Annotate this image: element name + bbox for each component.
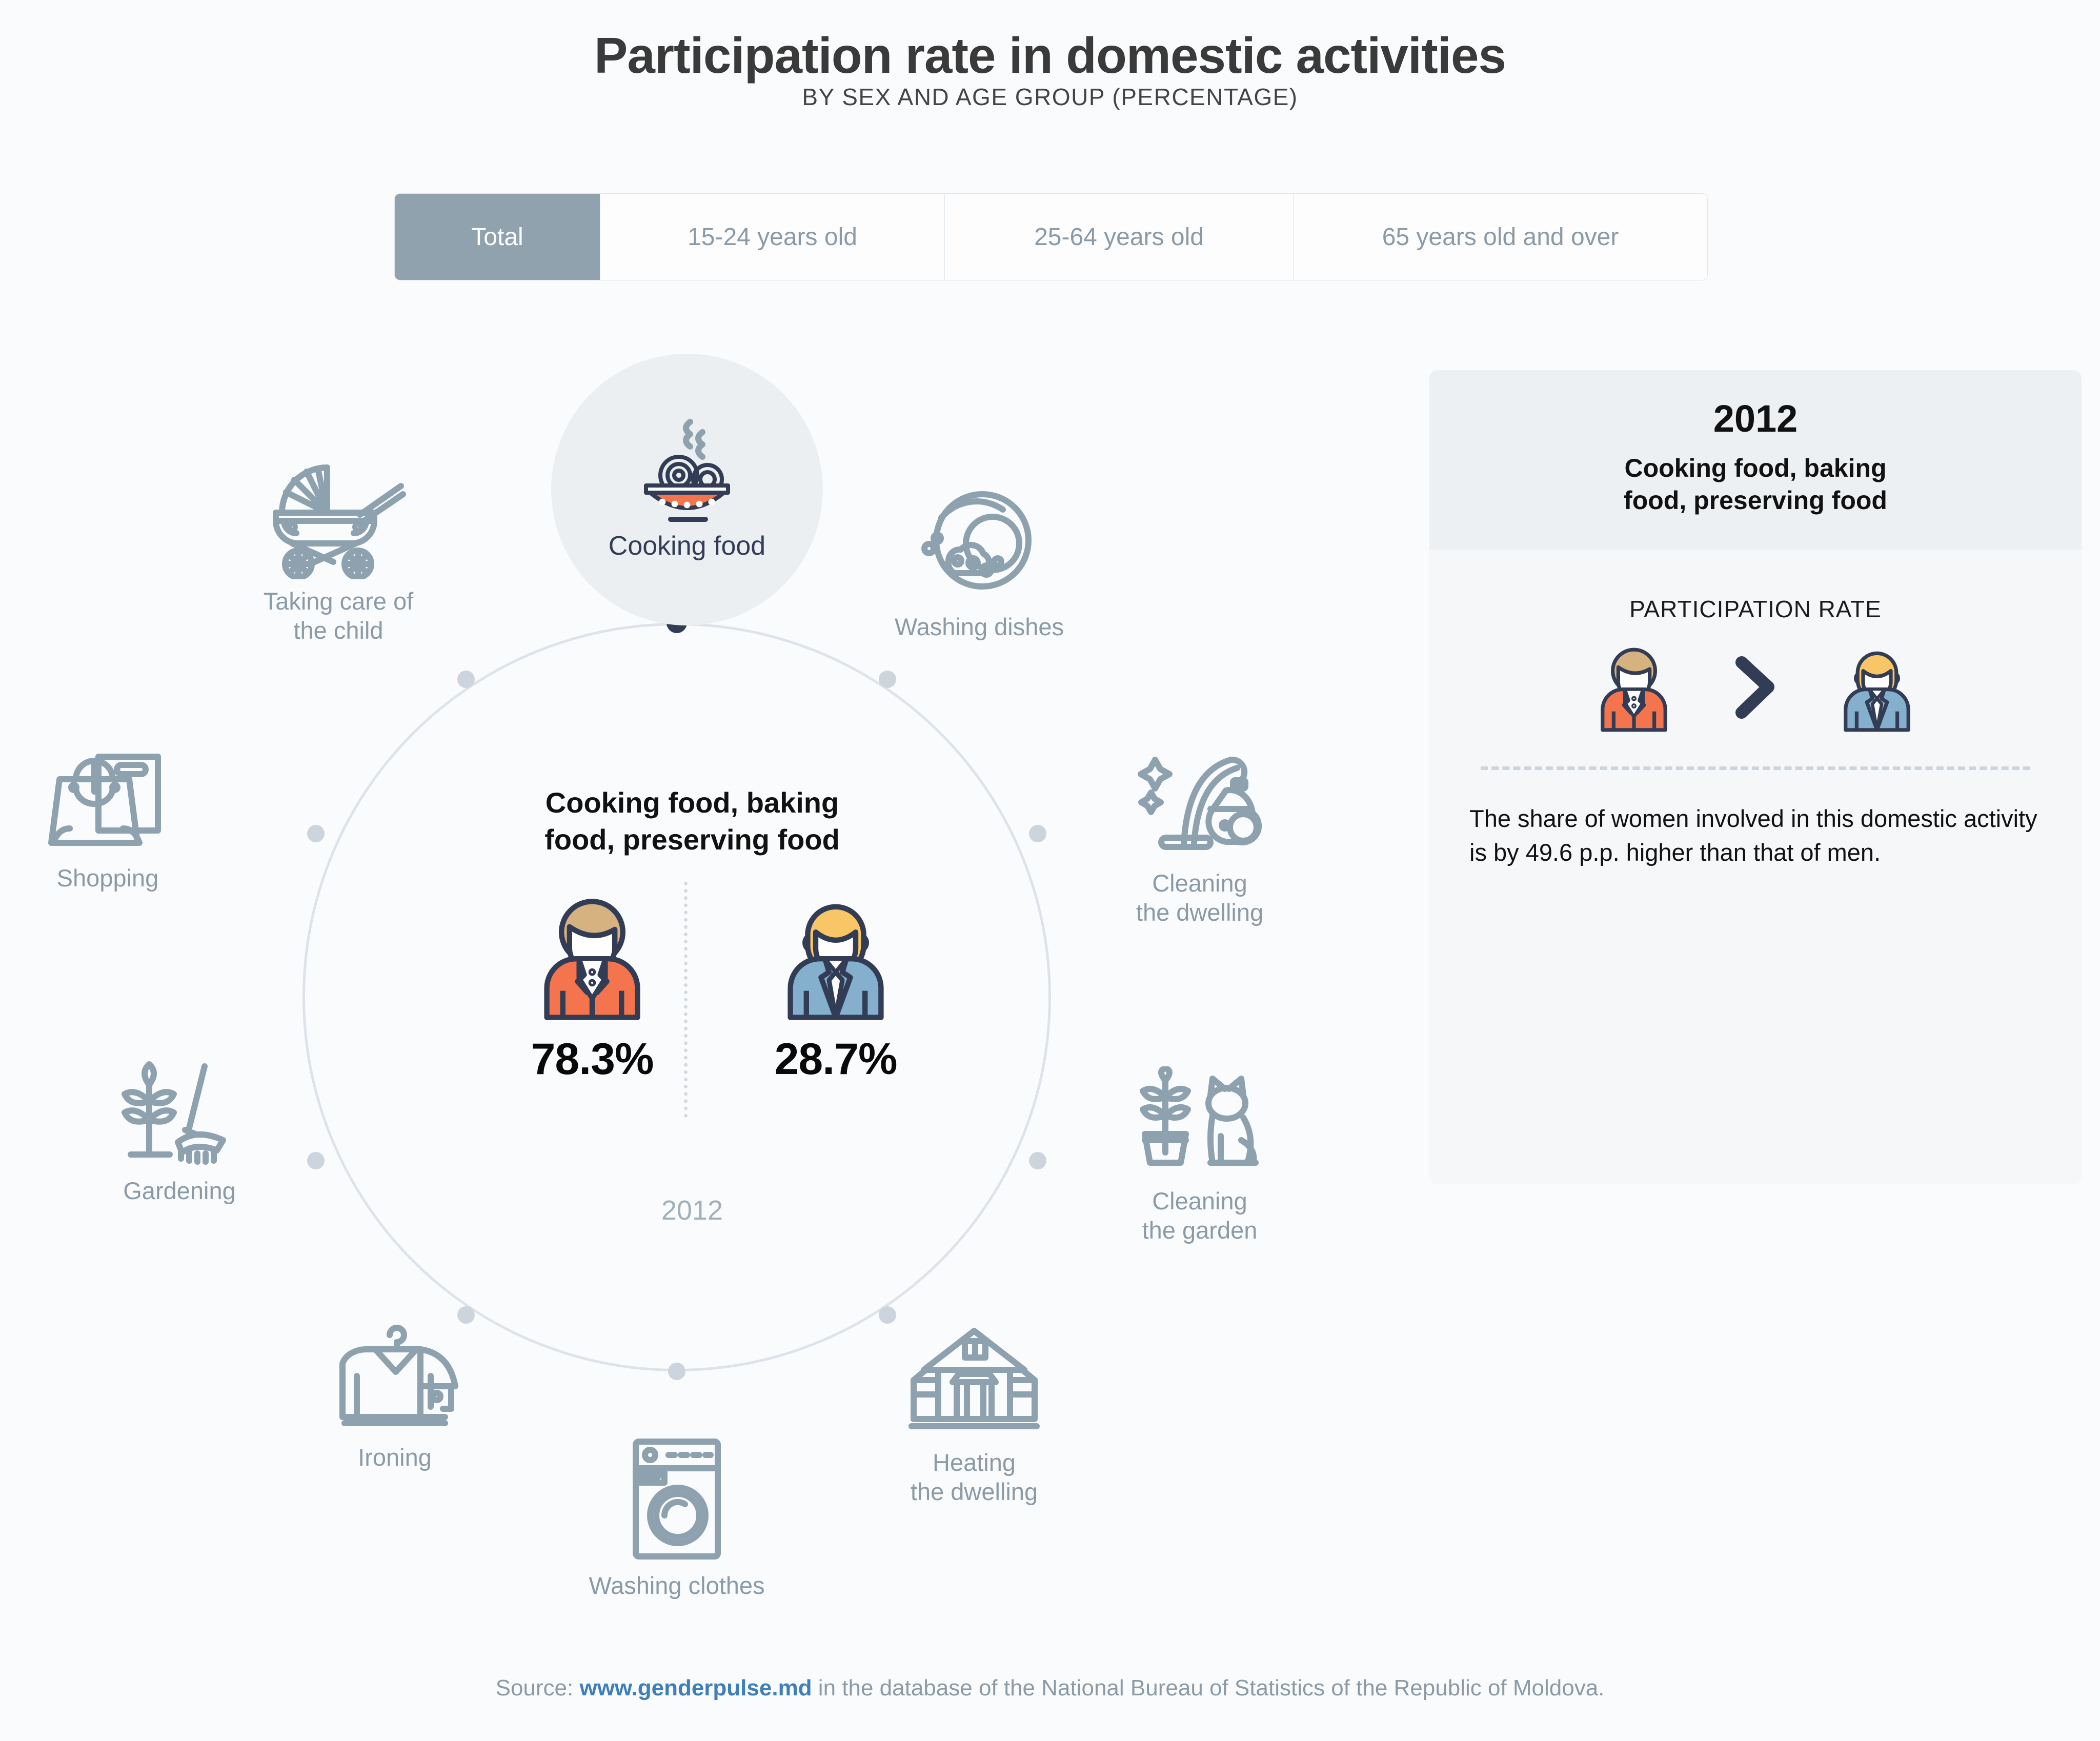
center-activity-title: Cooking food, baking food, preserving fo… [461, 784, 923, 858]
panel-note: The share of women involved in this dome… [1469, 802, 2042, 869]
wheel-ring [302, 623, 1051, 1371]
wheel-node-shopping[interactable] [307, 825, 325, 842]
spoke-washing-dishes[interactable]: Washing dishes [872, 487, 1087, 641]
vacuum-cleaner-icon [1092, 743, 1307, 861]
tab-65-and-over[interactable]: 65 years old and over [1293, 194, 1707, 280]
child-care-line2: the child [293, 617, 383, 644]
stroller-icon [215, 461, 461, 579]
panel-male-avatar-icon [1831, 641, 1923, 734]
spoke-label-gardening: Gardening [72, 1176, 287, 1205]
child-care-line1: Taking care of [264, 588, 414, 615]
heating-dwelling-line1: Heating [933, 1449, 1016, 1476]
panel-activity-line1: Cooking food, baking [1624, 454, 1886, 482]
washing-dishes-icon [872, 487, 1087, 605]
cleaning-dwelling-line2: the dwelling [1136, 899, 1263, 926]
greater-than-icon [1727, 654, 1784, 721]
female-percentage: 78.3% [526, 1034, 659, 1085]
spoke-label-washing-dishes: Washing dishes [872, 612, 1087, 641]
spoke-label-shopping: Shopping [0, 863, 215, 893]
center-activity-line1: Cooking food, baking [461, 784, 923, 821]
cleaning-garden-line1: Cleaning [1152, 1187, 1247, 1214]
footer-suffix: in the database of the National Bureau o… [812, 1675, 1605, 1700]
page-subtitle: BY SEX AND AGE GROUP (PERCENTAGE) [0, 83, 2100, 111]
wheel-node-washing-clothes[interactable] [668, 1363, 685, 1380]
house-icon [866, 1323, 1082, 1441]
potted-plant-cat-icon [1092, 1066, 1307, 1179]
page-title: Participation rate in domestic activitie… [0, 27, 2100, 85]
spoke-cleaning-dwelling[interactable]: Cleaning the dwelling [1092, 743, 1307, 927]
female-avatar-icon [526, 889, 659, 1023]
wheel-node-child-care[interactable] [457, 671, 475, 688]
spoke-heating-dwelling[interactable]: Heating the dwelling [866, 1323, 1082, 1507]
footer-link[interactable]: www.genderpulse.md [579, 1675, 812, 1700]
age-group-tabbar[interactable]: Total 15-24 years old 25-64 years old 65… [395, 194, 1707, 280]
panel-activity: Cooking food, baking food, preserving fo… [1450, 452, 2061, 516]
panel-divider [1481, 766, 2030, 770]
spoke-label-heating-dwelling: Heating the dwelling [866, 1448, 1082, 1507]
heating-dwelling-line2: the dwelling [911, 1478, 1038, 1505]
wheel-node-cleaning-garden[interactable] [1029, 1152, 1046, 1169]
wheel-node-washing-dishes[interactable] [879, 671, 896, 688]
footer-prefix: Source: [496, 1675, 580, 1700]
spoke-shopping[interactable]: Shopping [0, 738, 215, 893]
ironing-icon [287, 1312, 502, 1435]
cleaning-garden-line2: the garden [1142, 1217, 1258, 1244]
cooking-food-icon [625, 418, 749, 525]
spoke-label-cooking-food: Cooking food [609, 531, 765, 561]
panel-comparison [1429, 641, 2082, 734]
wheel-node-gardening[interactable] [307, 1152, 325, 1169]
panel-year: 2012 [1450, 400, 2061, 438]
panel-activity-line2: food, preserving food [1624, 486, 1887, 515]
wheel-node-cleaning-dwelling[interactable] [1029, 825, 1046, 842]
male-percentage: 28.7% [769, 1034, 902, 1085]
activity-wheel [302, 623, 1051, 1371]
panel-female-avatar-icon [1588, 641, 1680, 734]
footer-source: Source: www.genderpulse.md in the databa… [0, 1675, 2100, 1701]
tab-15-24[interactable]: 15-24 years old [600, 194, 944, 280]
center-divider [684, 882, 688, 1118]
spoke-gardening[interactable]: Gardening [72, 1056, 287, 1205]
female-stat: 78.3% [526, 889, 659, 1085]
spoke-cooking-food[interactable]: Cooking food [551, 354, 823, 625]
male-avatar-icon [769, 889, 902, 1023]
spoke-label-washing-clothes: Washing clothes [569, 1571, 784, 1600]
center-year: 2012 [461, 1195, 923, 1226]
panel-header: 2012 Cooking food, baking food, preservi… [1429, 370, 2082, 550]
spoke-child-care[interactable]: Taking care of the child [215, 461, 461, 645]
spoke-cleaning-garden[interactable]: Cleaning the garden [1092, 1066, 1307, 1245]
panel-rate-label: PARTICIPATION RATE [1429, 595, 2082, 623]
spoke-label-ironing: Ironing [287, 1443, 502, 1472]
center-activity-line2: food, preserving food [461, 821, 923, 858]
washing-machine-icon [569, 1435, 784, 1564]
gardening-icon [72, 1056, 287, 1169]
spoke-label-cleaning-dwelling: Cleaning the dwelling [1092, 868, 1307, 927]
wheel-node-heating-dwelling[interactable] [879, 1306, 896, 1324]
spoke-label-child-care: Taking care of the child [215, 586, 461, 645]
shopping-bag-icon [0, 738, 215, 856]
spoke-washing-clothes[interactable]: Washing clothes [569, 1435, 784, 1600]
tab-25-64[interactable]: 25-64 years old [944, 194, 1293, 280]
detail-panel: 2012 Cooking food, baking food, preservi… [1429, 370, 2082, 1184]
tab-total[interactable]: Total [395, 194, 600, 280]
cleaning-dwelling-line1: Cleaning [1152, 869, 1247, 897]
spoke-ironing[interactable]: Ironing [287, 1312, 502, 1472]
male-stat: 28.7% [769, 889, 902, 1085]
spoke-label-cleaning-garden: Cleaning the garden [1092, 1186, 1307, 1245]
